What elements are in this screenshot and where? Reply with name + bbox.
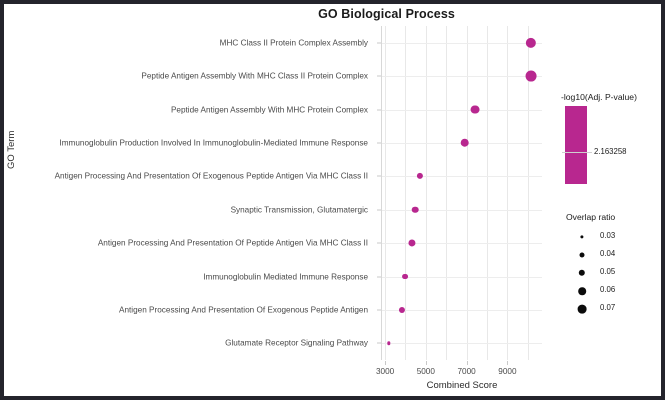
x-tick-mark — [507, 361, 508, 365]
x-tick-label: 9000 — [498, 367, 516, 376]
colorbar-tick-mark — [562, 152, 592, 153]
y-tick-label: Peptide Antigen Assembly With MHC Protei… — [171, 105, 368, 114]
gridline-horizontal — [382, 243, 542, 244]
x-tick-label: 7000 — [457, 367, 475, 376]
gridline-horizontal — [382, 76, 542, 77]
data-point[interactable] — [402, 274, 408, 280]
y-tick-mark — [377, 243, 381, 244]
data-point[interactable] — [526, 38, 536, 48]
size-legend-dot — [578, 287, 586, 295]
y-tick-mark — [377, 142, 381, 143]
data-point[interactable] — [471, 105, 480, 114]
chart-figure: GO Biological Process GO Term Combined S… — [0, 0, 665, 400]
size-legend-row: 0.03 — [560, 228, 665, 246]
size-legend-label: 0.03 — [600, 231, 615, 240]
size-legend-row: 0.05 — [560, 264, 665, 282]
data-point[interactable] — [387, 342, 390, 345]
data-point[interactable] — [412, 206, 419, 213]
y-tick-mark — [377, 343, 381, 344]
plot-area — [382, 26, 542, 360]
data-point[interactable] — [417, 173, 423, 179]
y-tick-label: Antigen Processing And Presentation Of P… — [98, 239, 368, 248]
y-axis-label: GO Term — [6, 131, 17, 169]
size-legend-label: 0.07 — [600, 303, 615, 312]
colorbar-title: -log10(Adj. P-value) — [561, 92, 637, 102]
gridline-horizontal — [382, 176, 542, 177]
size-legend-label: 0.04 — [600, 249, 615, 258]
data-point[interactable] — [525, 71, 536, 82]
y-tick-label: Peptide Antigen Assembly With MHC Class … — [141, 72, 368, 81]
x-tick-mark — [426, 361, 427, 365]
y-tick-mark — [377, 109, 381, 110]
gridline-horizontal — [382, 43, 542, 44]
y-tick-mark — [377, 309, 381, 310]
colorbar-swatch — [565, 106, 587, 184]
size-legend-row: 0.06 — [560, 282, 665, 300]
x-axis-label: Combined Score — [382, 380, 542, 391]
size-legend-title: Overlap ratio — [566, 212, 615, 222]
y-tick-label: MHC Class II Protein Complex Assembly — [220, 38, 368, 47]
y-tick-mark — [377, 76, 381, 77]
colorbar-tick-label: 2.163258 — [594, 147, 627, 156]
chart-title: GO Biological Process — [4, 7, 661, 21]
gridline-horizontal — [382, 110, 542, 111]
data-point[interactable] — [399, 307, 405, 313]
x-tick-label: 3000 — [376, 367, 394, 376]
y-tick-label: Immunoglobulin Mediated Immune Response — [203, 272, 368, 281]
size-legend-dot — [580, 235, 583, 238]
size-legend-row: 0.04 — [560, 246, 665, 264]
gridline-horizontal — [382, 343, 542, 344]
gridline-horizontal — [382, 210, 542, 211]
y-tick-mark — [377, 42, 381, 43]
data-point[interactable] — [408, 240, 415, 247]
data-point[interactable] — [460, 139, 469, 148]
y-tick-mark — [377, 209, 381, 210]
size-legend-row: 0.07 — [560, 300, 665, 318]
x-tick-mark — [385, 361, 386, 365]
y-tick-label: Immunoglobulin Production Involved In Im… — [59, 138, 368, 147]
y-tick-label: Glutamate Receptor Signaling Pathway — [225, 339, 368, 348]
y-tick-label: Synaptic Transmission, Glutamatergic — [231, 205, 368, 214]
size-legend-label: 0.06 — [600, 285, 615, 294]
size-legend-dot — [580, 253, 585, 258]
y-tick-mark — [377, 176, 381, 177]
x-tick-label: 5000 — [417, 367, 435, 376]
size-legend-dot — [578, 305, 587, 314]
y-tick-label: Antigen Processing And Presentation Of E… — [119, 305, 368, 314]
gridline-horizontal — [382, 310, 542, 311]
y-tick-mark — [377, 276, 381, 277]
x-tick-mark — [467, 361, 468, 365]
size-legend-label: 0.05 — [600, 267, 615, 276]
y-tick-label: Antigen Processing And Presentation Of E… — [55, 172, 368, 181]
size-legend-dot — [579, 270, 585, 276]
